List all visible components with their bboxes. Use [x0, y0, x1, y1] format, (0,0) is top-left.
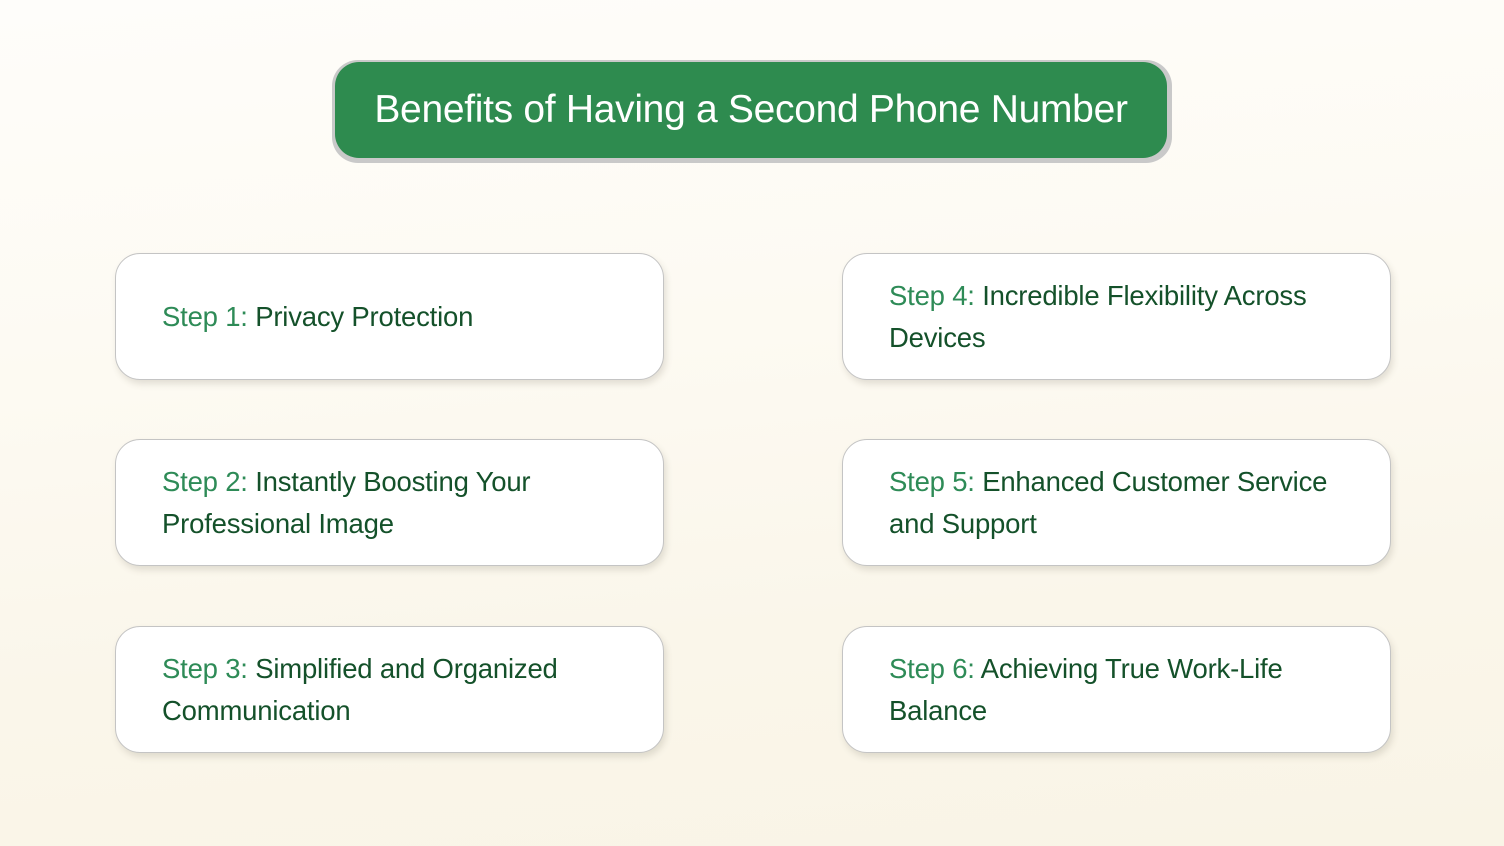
step-label: Step 4: [889, 280, 982, 311]
step-body: Privacy Protection [255, 301, 473, 332]
page-title: Benefits of Having a Second Phone Number [374, 89, 1127, 132]
step-label: Step 3: [162, 653, 255, 684]
step-label: Step 6: [889, 653, 981, 684]
title-banner: Benefits of Having a Second Phone Number [332, 60, 1172, 163]
step-label: Step 2: [162, 466, 255, 497]
benefit-card-step-1[interactable]: Step 1: Privacy Protection [115, 253, 664, 380]
benefit-card-step-4[interactable]: Step 4: Incredible Flexibility Across De… [842, 253, 1391, 380]
benefit-card-step-6[interactable]: Step 6: Achieving True Work-Life Balance [842, 626, 1391, 753]
benefit-card-text: Step 6: Achieving True Work-Life Balance [889, 648, 1344, 732]
benefit-card-grid: Step 1: Privacy Protection Step 2: Insta… [115, 253, 1390, 753]
step-label: Step 1: [162, 301, 255, 332]
benefit-card-text: Step 2: Instantly Boosting Your Professi… [162, 461, 617, 545]
benefit-card-text: Step 4: Incredible Flexibility Across De… [889, 275, 1344, 359]
benefit-card-text: Step 3: Simplified and Organized Communi… [162, 648, 617, 732]
benefit-card-step-3[interactable]: Step 3: Simplified and Organized Communi… [115, 626, 664, 753]
benefit-card-step-5[interactable]: Step 5: Enhanced Customer Service and Su… [842, 439, 1391, 566]
benefit-card-step-2[interactable]: Step 2: Instantly Boosting Your Professi… [115, 439, 664, 566]
step-label: Step 5: [889, 466, 982, 497]
title-banner-fill: Benefits of Having a Second Phone Number [335, 62, 1167, 158]
benefit-card-text: Step 1: Privacy Protection [162, 296, 473, 338]
slide-canvas: Benefits of Having a Second Phone Number… [0, 0, 1504, 846]
benefit-card-text: Step 5: Enhanced Customer Service and Su… [889, 461, 1344, 545]
